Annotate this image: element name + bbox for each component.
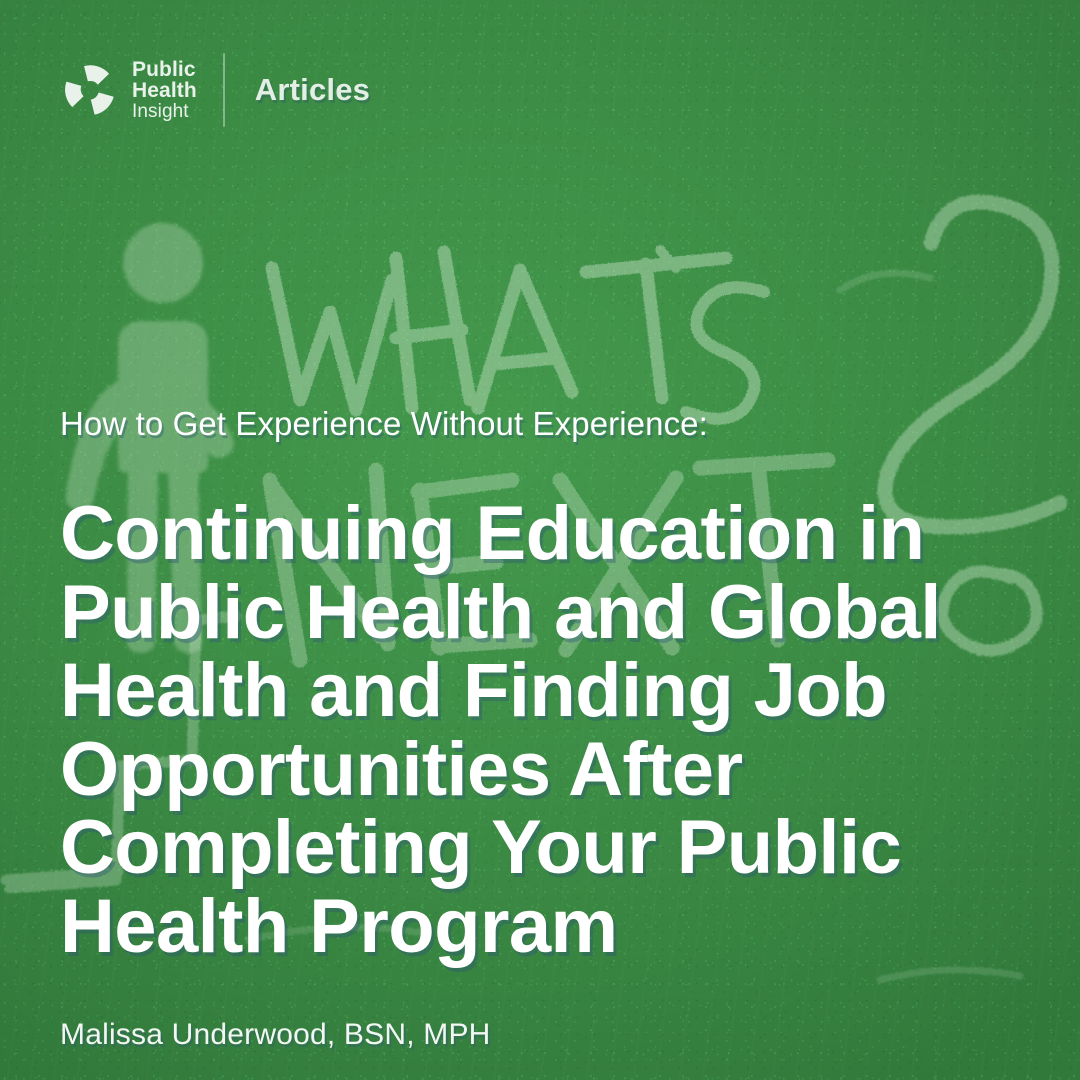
- article-author-byline: Malissa Underwood, BSN, MPH: [60, 1018, 1020, 1052]
- brand-name-line-3: Insight: [132, 102, 197, 121]
- header-divider: [223, 53, 225, 127]
- public-health-insight-ring-logo-icon: [62, 62, 118, 118]
- brand-name-line-2: Health: [132, 80, 197, 101]
- brand-wordmark: Public Health Insight: [132, 59, 197, 121]
- article-eyebrow: How to Get Experience Without Experience…: [60, 405, 1020, 444]
- brand-name-line-1: Public: [132, 59, 197, 80]
- article-cover-card: Public Health Insight Articles How to Ge…: [0, 0, 1080, 1080]
- article-headline: Continuing Education in Public Health an…: [60, 495, 990, 967]
- section-label-articles[interactable]: Articles: [255, 72, 370, 108]
- brand-logo-lockup[interactable]: Public Health Insight: [62, 59, 197, 121]
- header-bar: Public Health Insight Articles: [62, 48, 370, 132]
- article-text-block: How to Get Experience Without Experience…: [60, 405, 1020, 1052]
